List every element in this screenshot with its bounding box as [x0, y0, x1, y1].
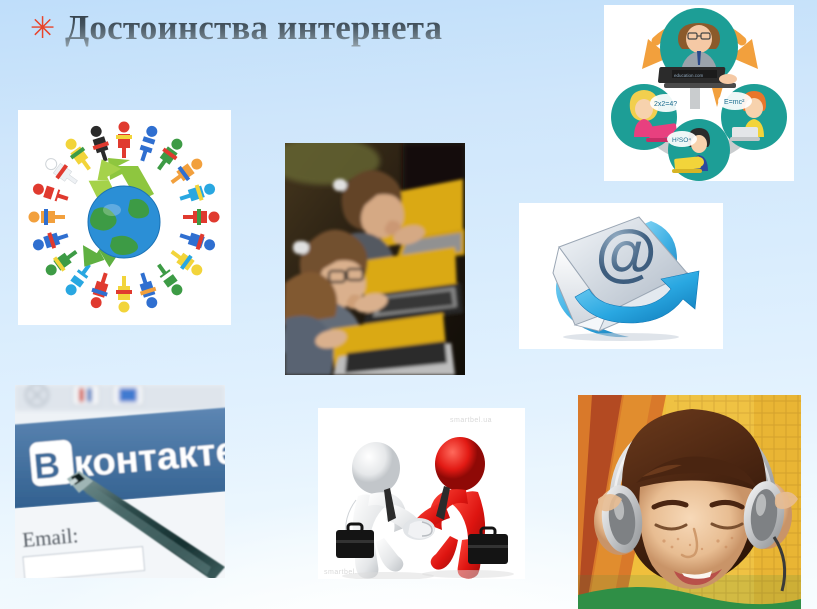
e-learning-cycle-illustration[interactable]: education.com 2x2=4? E=mc²: [604, 5, 794, 181]
watermark-text: smartbel.ua: [450, 417, 492, 424]
at-sign-glyph: @: [595, 218, 656, 288]
global-recycling-people-illustration[interactable]: [18, 110, 231, 325]
svg-text:H²SO⁴: H²SO⁴: [672, 137, 691, 144]
title-label: Достоинства интернета: [65, 10, 442, 47]
handshake-3d-figures-image[interactable]: smartbel.ua smartbel.ua: [318, 408, 525, 579]
svg-text:E=mc²: E=mc²: [724, 99, 745, 106]
svg-text:education.com: education.com: [674, 73, 704, 78]
email-envelope-icon[interactable]: @: [519, 203, 723, 349]
vkontakte-login-photo[interactable]: В контакте Email:: [15, 385, 225, 578]
page-title: ✳ Достоинства интернета: [30, 10, 442, 47]
boy-with-headphones-photo[interactable]: [578, 395, 801, 609]
children-at-laptops-photo[interactable]: [285, 143, 465, 375]
vk-logo-letter: В: [32, 444, 61, 487]
email-field-label: Email:: [21, 523, 79, 552]
asterisk-bullet-icon: ✳: [30, 14, 55, 44]
slide-canvas: ✳ Достоинства интернета: [0, 0, 817, 609]
svg-text:2x2=4?: 2x2=4?: [654, 101, 677, 108]
